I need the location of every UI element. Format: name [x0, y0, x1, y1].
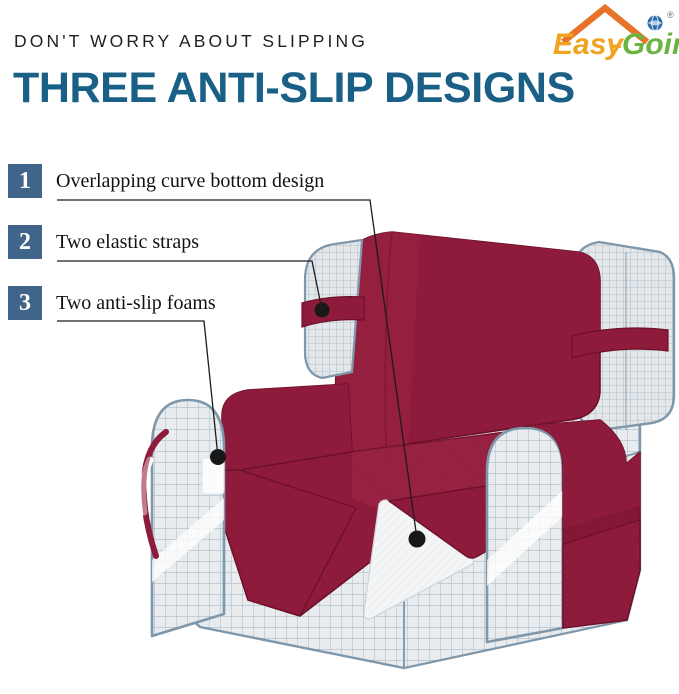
feature-badge-3: 3 — [8, 286, 42, 320]
slipcover-back-panel — [334, 232, 600, 452]
callout-marker-overlapping-curve — [409, 531, 426, 548]
armchair-illustration — [0, 0, 679, 694]
feature-badge-1: 1 — [8, 164, 42, 198]
callout-marker-elastic-strap — [315, 303, 330, 318]
chair-right-arm — [487, 428, 563, 642]
feature-label-1: Overlapping curve bottom design — [56, 164, 324, 198]
feature-label-2: Two elastic straps — [56, 225, 199, 259]
infographic-page: DON'T WORRY ABOUT SLIPPING THREE ANTI-SL… — [0, 0, 679, 694]
feature-badge-2: 2 — [8, 225, 42, 259]
feature-label-3: Two anti-slip foams — [56, 286, 216, 320]
callout-marker-anti-slip-foam — [210, 449, 226, 465]
